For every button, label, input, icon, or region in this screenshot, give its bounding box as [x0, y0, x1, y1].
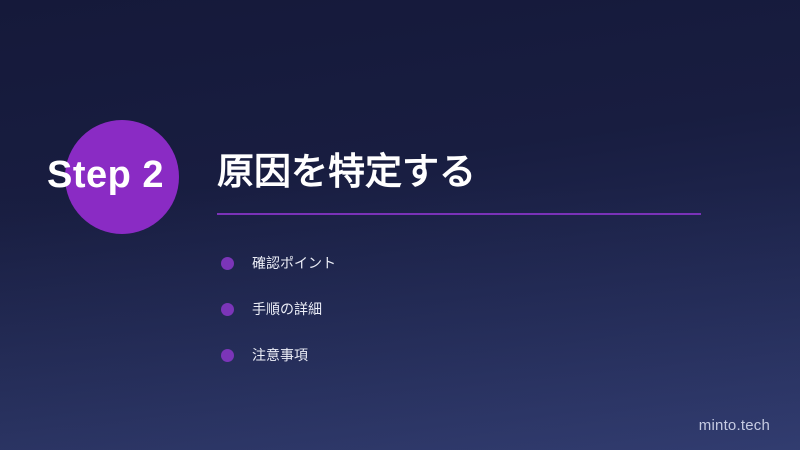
list-item-label: 確認ポイント	[252, 254, 336, 272]
step-label: Step 2	[47, 153, 164, 197]
bullet-dot-icon	[221, 349, 234, 362]
bullet-dot-icon	[221, 303, 234, 316]
list-item: 注意事項	[221, 332, 336, 378]
list-item: 確認ポイント	[221, 240, 336, 286]
slide-title: 原因を特定する	[217, 150, 476, 194]
list-item-label: 手順の詳細	[252, 300, 322, 318]
list-item-label: 注意事項	[252, 346, 308, 364]
footer-branding: minto.tech	[699, 417, 770, 434]
bullet-dot-icon	[221, 257, 234, 270]
slide-canvas: Step 2 原因を特定する 確認ポイント 手順の詳細 注意事項 minto.t…	[0, 0, 800, 450]
bullet-list: 確認ポイント 手順の詳細 注意事項	[221, 240, 336, 378]
list-item: 手順の詳細	[221, 286, 336, 332]
title-divider	[217, 213, 701, 215]
